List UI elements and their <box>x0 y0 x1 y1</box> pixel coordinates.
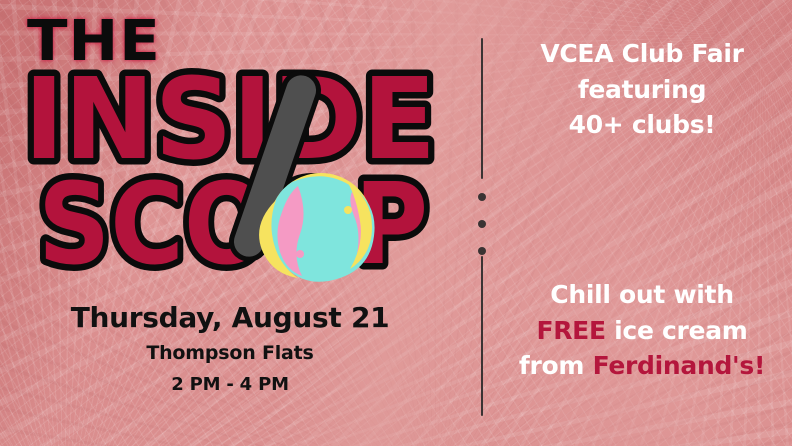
event-details: Thursday, August 21 Thompson Flats 2 PM … <box>0 302 460 398</box>
logo-wordmark-svg: .lt{ font-family:"DejaVu Sans",sans-seri… <box>0 58 460 288</box>
divider-line-top <box>481 38 483 179</box>
ice-cream-line-3: from Ferdinand's! <box>492 348 792 384</box>
divider-dot-2 <box>478 220 486 228</box>
divider-dot-3 <box>478 247 486 255</box>
vertical-divider <box>478 0 486 446</box>
club-fair-line-3: 40+ clubs! <box>492 107 792 143</box>
event-time: 2 PM - 4 PM <box>0 371 460 398</box>
ferdinands-highlight: Ferdinand's! <box>593 351 766 380</box>
event-date: Thursday, August 21 <box>0 302 460 333</box>
info-panel: VCEA Club Fair featuring 40+ clubs! Chil… <box>492 0 792 446</box>
ice-cream-message: Chill out with FREE ice cream from Ferdi… <box>492 277 792 384</box>
divider-line-bottom <box>481 256 483 416</box>
from-text: from <box>519 351 593 380</box>
logo-panel: THE .lt{ font-family:"DejaVu Sans",sans-… <box>0 0 460 446</box>
club-fair-message: VCEA Club Fair featuring 40+ clubs! <box>492 36 792 143</box>
club-fair-line-1: VCEA Club Fair <box>492 36 792 72</box>
ice-cream-line-1: Chill out with <box>492 277 792 313</box>
free-highlight: FREE <box>536 316 605 345</box>
club-fair-line-2: featuring <box>492 72 792 108</box>
event-flyer: THE .lt{ font-family:"DejaVu Sans",sans-… <box>0 0 792 446</box>
ice-cream-line-2: FREE ice cream <box>492 313 792 349</box>
ice-cream-text: ice cream <box>606 316 748 345</box>
logo-wordmark: .lt{ font-family:"DejaVu Sans",sans-seri… <box>0 58 460 288</box>
divider-dot-1 <box>478 193 486 201</box>
event-venue: Thompson Flats <box>0 339 460 368</box>
